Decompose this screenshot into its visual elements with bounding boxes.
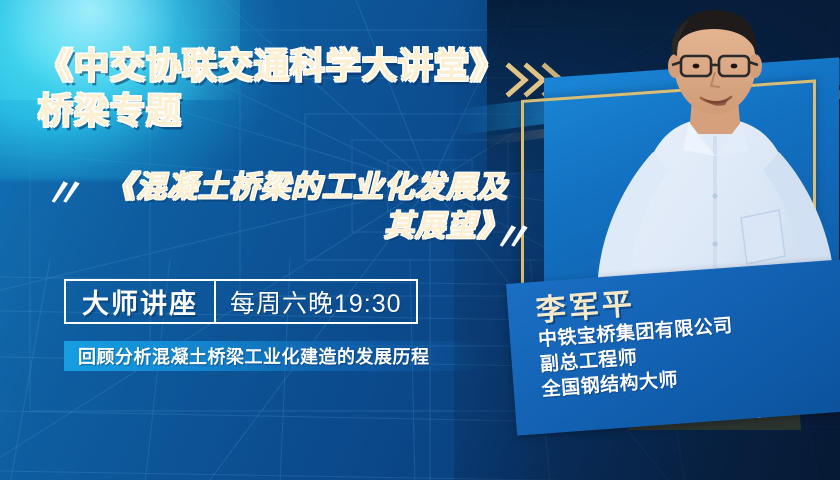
quote-mark-left-icon: 〃 — [42, 174, 78, 214]
subtitle-band: 回顾分析混凝土桥梁工业化建造的发展历程 — [64, 341, 484, 371]
speaker-info-text: 李军平 中铁宝桥集团有限公司 副总工程师 全国钢结构大师 — [506, 258, 840, 436]
quote-mark-right-icon: 〃 — [490, 218, 526, 258]
subtitle-text: 回顾分析混凝土桥梁工业化建造的发展历程 — [64, 343, 430, 369]
lecture-schedule-box: 大师讲座 每周六晚19:30 — [64, 279, 418, 324]
title-line-2: 桥梁专题 — [38, 91, 558, 134]
title-block: 《中交协联交通科学大讲堂》 桥梁专题 — [38, 46, 558, 133]
lecture-poster: 李军平 中铁宝桥集团有限公司 副总工程师 全国钢结构大师 《中交协联交通科学大讲… — [0, 0, 840, 480]
topic-title: 《混凝土桥梁的工业化发展及其展望》 — [88, 168, 508, 246]
lecture-label: 大师讲座 — [66, 281, 214, 322]
title-line-1: 《中交协联交通科学大讲堂》 — [38, 46, 558, 89]
lecture-time: 每周六晚19:30 — [216, 281, 416, 322]
topic-quote-block: 〃 《混凝土桥梁的工业化发展及其展望》 〃 — [40, 168, 520, 268]
